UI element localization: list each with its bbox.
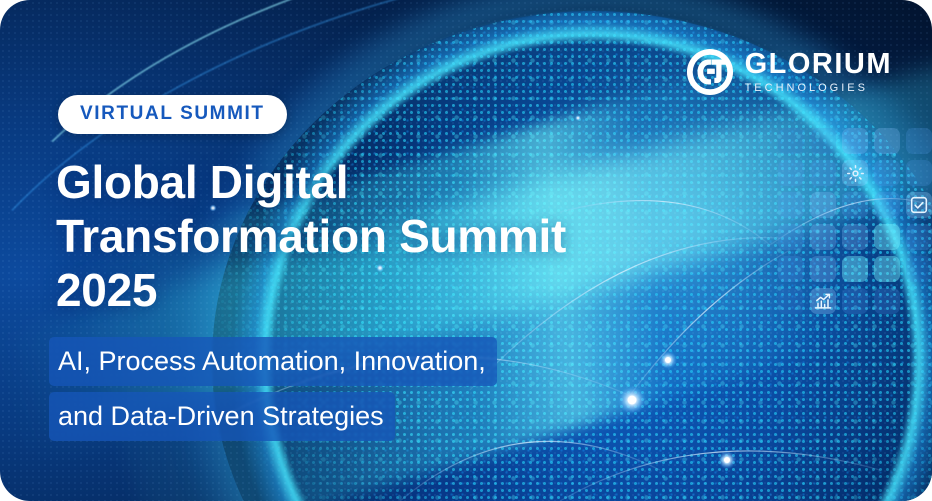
grid-tile	[906, 128, 932, 154]
grid-tile	[906, 224, 932, 250]
logo-wordmark: GLORIUM TECHNOLOGIES	[745, 50, 892, 94]
grid-tile	[810, 224, 836, 250]
event-promo-banner: GLORIUM TECHNOLOGIES VIRTUAL SUMMIT Glob…	[0, 0, 932, 501]
grid-tile	[906, 256, 932, 282]
grid-tile-bar-chart	[810, 288, 836, 314]
grid-tile	[810, 128, 836, 154]
grid-tile	[874, 192, 900, 218]
logo-tagline: TECHNOLOGIES	[745, 83, 892, 94]
subtitle-block: AI, Process Automation, Innovation, and …	[49, 337, 497, 441]
decorative-icon-grid	[772, 128, 932, 418]
subtitle-line-2: and Data-Driven Strategies	[49, 392, 395, 441]
grid-tile	[842, 224, 868, 250]
grid-tile	[874, 224, 900, 250]
grid-tile	[778, 128, 804, 154]
grid-tile-checkbox	[906, 192, 932, 218]
grid-tile	[842, 128, 868, 154]
grid-tile	[842, 288, 868, 314]
grid-tile	[842, 256, 868, 282]
grid-tile	[810, 160, 836, 186]
page-title: Global Digital Transformation Summit 202…	[56, 155, 656, 317]
virtual-summit-badge: VIRTUAL SUMMIT	[58, 95, 287, 134]
bar-chart-growth-icon	[813, 291, 833, 311]
grid-tile	[906, 160, 932, 186]
grid-tile	[874, 288, 900, 314]
grid-tile	[778, 192, 804, 218]
grid-tile	[778, 224, 804, 250]
grid-tile	[810, 192, 836, 218]
grid-tile	[874, 160, 900, 186]
brand-logo: GLORIUM TECHNOLOGIES	[686, 48, 892, 96]
grid-tile	[874, 256, 900, 282]
banner-content: VIRTUAL SUMMIT Global Digital Transforma…	[0, 0, 700, 501]
grid-tile	[874, 128, 900, 154]
checkbox-check-icon	[909, 195, 929, 215]
logo-name: GLORIUM	[745, 50, 892, 79]
grid-tile	[778, 288, 804, 314]
subtitle-line-1: AI, Process Automation, Innovation,	[49, 337, 497, 386]
grid-tile	[842, 192, 868, 218]
grid-tile-gear	[842, 160, 868, 186]
grid-tile	[810, 256, 836, 282]
grid-tile	[778, 160, 804, 186]
grid-tile	[778, 256, 804, 282]
gear-icon	[846, 164, 865, 183]
